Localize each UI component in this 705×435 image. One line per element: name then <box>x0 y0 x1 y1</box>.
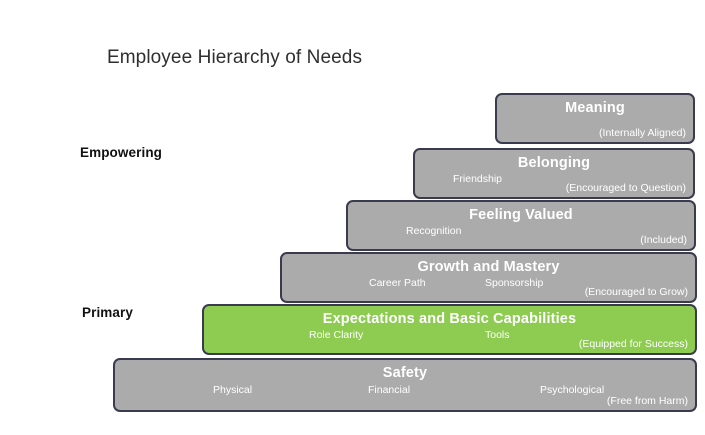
tier-sub-label: Tools <box>485 329 510 341</box>
tier-bar[interactable]: Growth and MasteryCareer PathSponsorship… <box>280 252 697 303</box>
tier-note: (Included) <box>640 234 687 246</box>
tier-title: Safety <box>115 365 695 381</box>
chart-title-text: Employee Hierarchy of Needs <box>107 47 362 68</box>
employee-hierarchy-of-needs-diagram: Employee Hierarchy of Needs Empowering P… <box>0 0 705 435</box>
tier-bar[interactable]: Expectations and Basic CapabilitiesRole … <box>202 304 697 355</box>
tier-title: Feeling Valued <box>348 207 694 223</box>
tier-title: Belonging <box>415 155 693 171</box>
group-label-primary: Primary <box>82 305 133 320</box>
chart-title: Employee Hierarchy of Needs <box>0 47 705 69</box>
tier-sub-label: Career Path <box>369 277 426 289</box>
tier-sub-label: Financial <box>368 384 410 396</box>
tier-title: Growth and Mastery <box>282 259 695 275</box>
tier-note: (Encouraged to Question) <box>566 182 686 194</box>
tier-note: (Internally Aligned) <box>599 127 686 139</box>
tier-sub-label: Recognition <box>406 225 461 237</box>
tier-note: (Equipped for Success) <box>579 338 688 350</box>
group-label-empowering: Empowering <box>80 145 162 160</box>
tier-title: Meaning <box>497 100 693 116</box>
tier-note: (Encouraged to Grow) <box>585 286 688 298</box>
tier-title: Expectations and Basic Capabilities <box>204 311 695 327</box>
tier-bar[interactable]: Meaning(Internally Aligned) <box>495 93 695 144</box>
tier-sub-label: Role Clarity <box>309 329 363 341</box>
tier-sub-label: Psychological <box>540 384 604 396</box>
tier-sub-label: Friendship <box>453 173 502 185</box>
tier-sub-label: Sponsorship <box>485 277 543 289</box>
tier-bar[interactable]: SafetyPhysicalFinancialPsychological(Fre… <box>113 358 697 412</box>
tier-bar[interactable]: Feeling ValuedRecognition(Included) <box>346 200 696 251</box>
tier-bar[interactable]: BelongingFriendship(Encouraged to Questi… <box>413 148 695 199</box>
tier-sub-label: Physical <box>213 384 252 396</box>
tier-note: (Free from Harm) <box>607 395 688 407</box>
